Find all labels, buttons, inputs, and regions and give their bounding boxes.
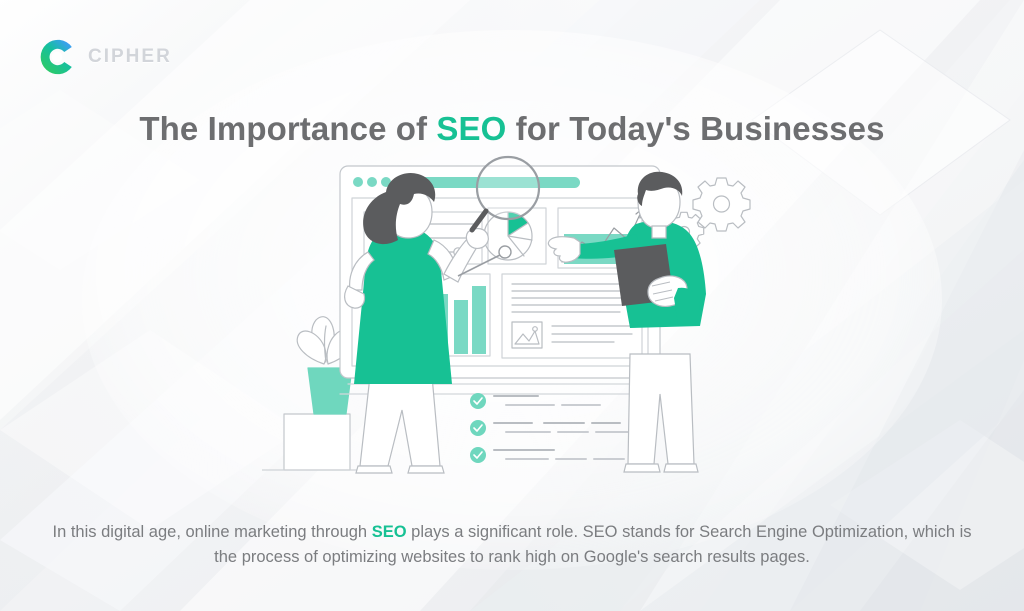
seo-infographic-slide: CIPHER The Importance of SEO for Today's…	[0, 0, 1024, 611]
seo-checklist	[470, 393, 628, 463]
page-title: The Importance of SEO for Today's Busine…	[0, 110, 1024, 148]
green-dot-1	[353, 177, 363, 187]
page-title-before: The Importance of	[139, 110, 436, 147]
brand-wordmark: CIPHER	[88, 46, 172, 68]
page-title-after: for Today's Businesses	[506, 110, 884, 147]
footer-before: In this digital age, online marketing th…	[53, 523, 372, 541]
gear-large-icon	[693, 178, 750, 231]
footer-accent: SEO	[372, 523, 407, 541]
page-title-accent: SEO	[436, 110, 506, 147]
footer-paragraph: In this digital age, online marketing th…	[52, 520, 972, 570]
checklist-item-1	[470, 393, 600, 409]
seo-analytics-illustration	[262, 148, 762, 488]
checklist-item-2	[470, 420, 628, 436]
brand-logo[interactable]: CIPHER	[36, 36, 172, 78]
cipher-c-logo-icon	[36, 36, 78, 78]
green-dot-2	[367, 177, 377, 187]
checklist-item-3	[470, 447, 624, 463]
